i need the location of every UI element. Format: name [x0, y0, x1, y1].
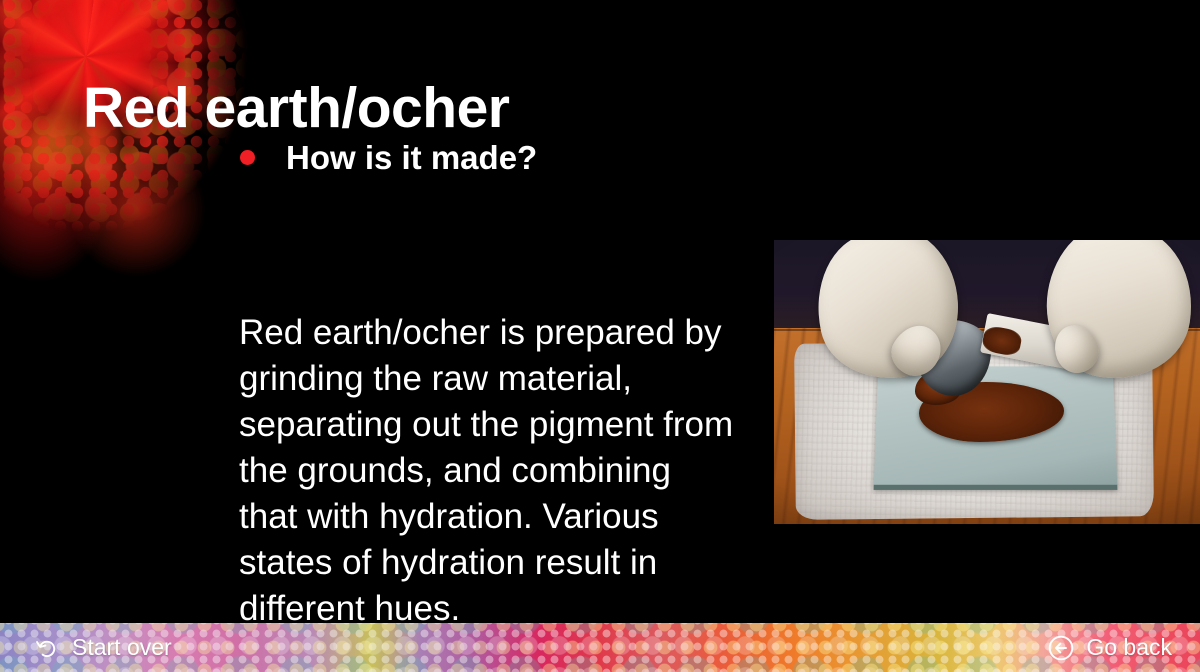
photo-vignette — [774, 240, 1200, 524]
undo-circular-arrow-icon — [33, 634, 61, 662]
go-back-label: Go back — [1086, 634, 1172, 661]
bullet-dot-icon — [240, 150, 255, 165]
navbar-powder-texture — [0, 623, 1200, 672]
subtitle-row: How is it made? — [240, 141, 537, 174]
start-over-label: Start over — [72, 634, 172, 661]
go-back-button[interactable]: Go back — [1047, 623, 1172, 672]
start-over-button[interactable]: Start over — [33, 623, 172, 672]
grinding-red-ocher-pigment-photo — [774, 240, 1200, 524]
body-paragraph: Red earth/ocher is prepared by grinding … — [239, 310, 739, 632]
slide-canvas: Red earth/ocher How is it made? Red eart… — [0, 0, 1200, 672]
page-title: Red earth/ocher — [83, 80, 509, 137]
circled-left-arrow-icon — [1047, 634, 1075, 662]
bottom-navigation-bar: Start over Go back — [0, 623, 1200, 672]
subtitle: How is it made? — [286, 141, 537, 174]
